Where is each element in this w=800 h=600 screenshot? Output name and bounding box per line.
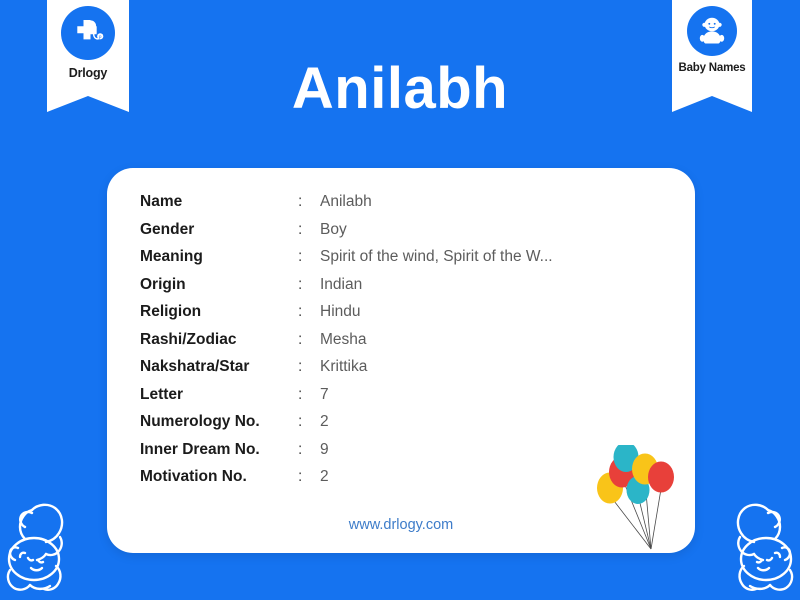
name-details-card: Name : Anilabh Gender : Boy Meaning : Sp… bbox=[107, 168, 695, 553]
table-row: Origin : Indian bbox=[140, 276, 553, 304]
row-label: Gender bbox=[140, 221, 298, 239]
row-separator: : bbox=[298, 358, 320, 376]
site-url[interactable]: www.drlogy.com bbox=[107, 517, 695, 533]
table-row: Letter : 7 bbox=[140, 386, 553, 414]
table-row: Motivation No. : 2 bbox=[140, 468, 553, 496]
doctor-stethoscope-icon: p bbox=[68, 13, 108, 53]
row-value: Hindu bbox=[320, 303, 361, 321]
row-label: Motivation No. bbox=[140, 468, 298, 486]
row-value: 7 bbox=[320, 386, 329, 404]
row-label: Name bbox=[140, 193, 298, 211]
row-value: 2 bbox=[320, 468, 329, 486]
row-separator: : bbox=[298, 303, 320, 321]
row-label: Rashi/Zodiac bbox=[140, 331, 298, 349]
baby-names-logo-circle bbox=[687, 6, 737, 56]
balloons-icon bbox=[581, 445, 693, 553]
row-separator: : bbox=[298, 193, 320, 211]
row-label: Religion bbox=[140, 303, 298, 321]
row-separator: : bbox=[298, 331, 320, 349]
row-value: Spirit of the wind, Spirit of the W... bbox=[320, 248, 553, 266]
row-separator: : bbox=[298, 248, 320, 266]
mother-and-baby-icon bbox=[0, 482, 106, 600]
table-row: Religion : Hindu bbox=[140, 303, 553, 331]
row-label: Inner Dream No. bbox=[140, 441, 298, 459]
poster-canvas: p Drlogy Baby Names Anilabh bbox=[0, 0, 800, 600]
row-value: 2 bbox=[320, 413, 329, 431]
row-label: Letter bbox=[140, 386, 298, 404]
row-value: Indian bbox=[320, 276, 362, 294]
row-separator: : bbox=[298, 386, 320, 404]
row-value: Krittika bbox=[320, 358, 367, 376]
table-row: Numerology No. : 2 bbox=[140, 413, 553, 441]
drlogy-logo-circle: p bbox=[61, 6, 115, 60]
row-label: Meaning bbox=[140, 248, 298, 266]
page-title: Anilabh bbox=[0, 60, 800, 118]
row-value: Boy bbox=[320, 221, 347, 239]
row-value: Mesha bbox=[320, 331, 367, 349]
details-table: Name : Anilabh Gender : Boy Meaning : Sp… bbox=[140, 193, 553, 496]
row-label: Nakshatra/Star bbox=[140, 358, 298, 376]
table-row: Inner Dream No. : 9 bbox=[140, 441, 553, 469]
row-value: Anilabh bbox=[320, 193, 372, 211]
row-label: Origin bbox=[140, 276, 298, 294]
row-separator: : bbox=[298, 468, 320, 486]
row-separator: : bbox=[298, 276, 320, 294]
row-separator: : bbox=[298, 413, 320, 431]
table-row: Meaning : Spirit of the wind, Spirit of … bbox=[140, 248, 553, 276]
row-label: Numerology No. bbox=[140, 413, 298, 431]
table-row: Rashi/Zodiac : Mesha bbox=[140, 331, 553, 359]
baby-icon bbox=[694, 13, 730, 49]
table-row: Name : Anilabh bbox=[140, 193, 553, 221]
row-separator: : bbox=[298, 441, 320, 459]
row-value: 9 bbox=[320, 441, 329, 459]
table-row: Gender : Boy bbox=[140, 221, 553, 249]
row-separator: : bbox=[298, 221, 320, 239]
mother-and-baby-icon bbox=[694, 482, 800, 600]
table-row: Nakshatra/Star : Krittika bbox=[140, 358, 553, 386]
